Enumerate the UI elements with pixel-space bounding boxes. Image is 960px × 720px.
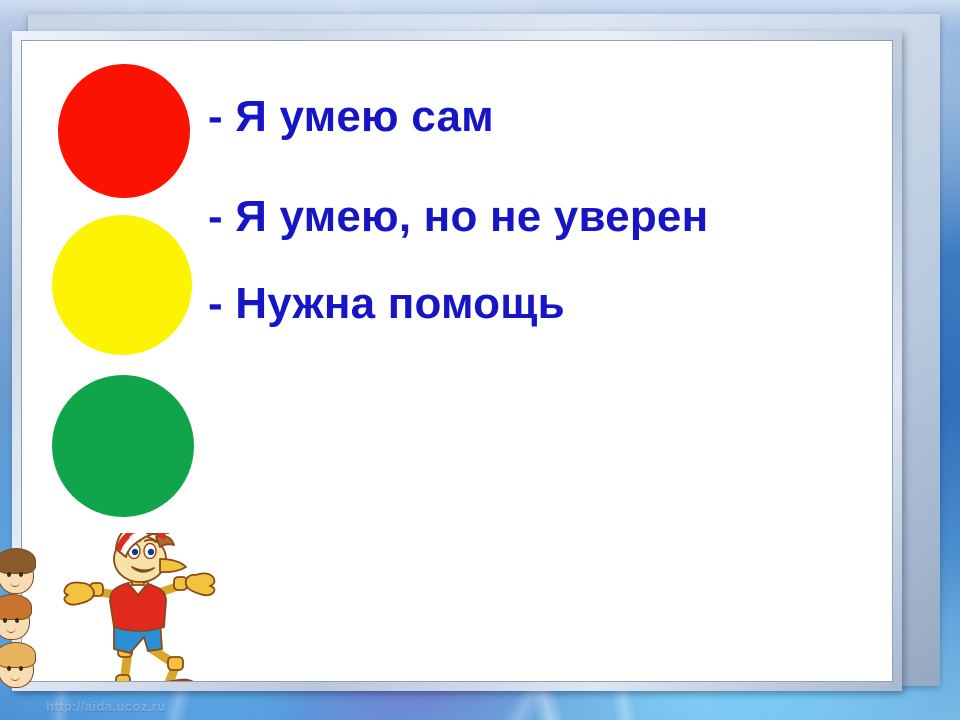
legend-item-yellow-label: - Я умею, но не уверен — [208, 189, 828, 245]
watermark-url: http://aida.ucoz.ru — [46, 699, 166, 714]
content-card-frame: - Я умею сам - Я умею, но не уверен - Ну… — [12, 31, 902, 691]
side-kids-illustration — [0, 548, 40, 698]
buratino-character-illustration — [56, 533, 232, 682]
content-card: - Я умею сам - Я умею, но не уверен - Ну… — [21, 40, 893, 682]
red-circle-marker — [58, 64, 190, 198]
kid-head-3 — [0, 642, 36, 688]
green-circle-marker — [52, 375, 194, 517]
slide-canvas: - Я умею сам - Я умею, но не уверен - Ну… — [0, 0, 960, 720]
kid-head-2 — [0, 594, 32, 640]
legend-item-red-label: - Я умею сам — [208, 89, 828, 145]
yellow-circle-marker — [52, 215, 192, 355]
kid-head-1 — [0, 548, 36, 594]
legend-item-green-label: - Нужна помощь — [208, 276, 828, 332]
legend-text-block: - Я умею сам - Я умею, но не уверен - Ну… — [208, 89, 828, 332]
